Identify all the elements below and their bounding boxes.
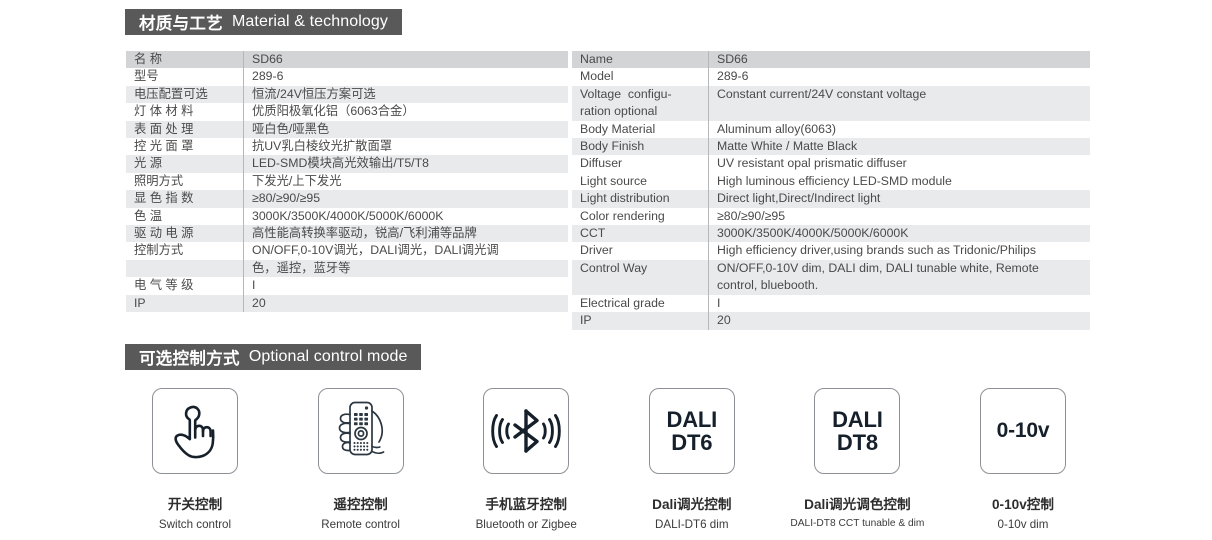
spec-value: ON/OFF,0-10V调光，DALI调光，DALI调光调 <box>243 242 568 259</box>
spec-value: LED-SMD模块高光效输出/T5/T8 <box>243 155 568 172</box>
table-row-continuation: control, bluebooth. <box>572 277 1090 294</box>
table-row: 名 称 SD66 <box>126 51 568 68</box>
spec-value: 抗UV乳白棱纹光扩散面罩 <box>243 138 568 155</box>
control-mode-switch[interactable]: 开关控制 Switch control <box>126 388 264 531</box>
spec-value: 恒流/24V恒压方案可选 <box>243 86 568 103</box>
spec-value: 色，遥控，蓝牙等 <box>243 260 568 277</box>
table-row-continuation: ration optional <box>572 103 1090 120</box>
spec-value: Aluminum alloy(6063) <box>708 121 1090 138</box>
control-mode-0-10v[interactable]: 0-10v 0-10v控制 0-10v dim <box>954 388 1092 531</box>
table-row: Color rendering ≥80/≥90/≥95 <box>572 208 1090 225</box>
control-mode-label-cn: 开关控制 <box>168 493 222 513</box>
control-mode-label-cn: Dali调光控制 <box>652 493 731 513</box>
control-mode-dali-dt8[interactable]: DALI DT8 Dali调光调色控制 DALI-DT8 CCT tunable… <box>788 388 926 531</box>
spec-key: 灯 体 材 料 <box>126 103 243 120</box>
table-row: Name SD66 <box>572 51 1090 68</box>
product-spec-page: 材质与工艺 Material & technology 名 称 SD66 型号 … <box>0 0 1212 540</box>
spec-value: Constant current/24V constant voltage <box>708 86 1090 103</box>
control-mode-remote[interactable]: 遥控控制 Remote control <box>292 388 430 531</box>
dali-dt6-badge-icon: DALI DT6 <box>667 408 718 454</box>
table-row: 显 色 指 数 ≥80/≥90/≥95 <box>126 190 568 207</box>
spec-value: 289-6 <box>243 68 568 85</box>
spec-key: Light source <box>572 173 708 190</box>
table-row: 电压配置可选 恒流/24V恒压方案可选 <box>126 86 568 103</box>
spec-key: 色 温 <box>126 208 243 225</box>
table-row: Diffuser UV resistant opal prismatic dif… <box>572 155 1090 172</box>
table-row: Light distribution Direct light,Direct/I… <box>572 190 1090 207</box>
bluetooth-wireless-icon <box>491 406 561 456</box>
spec-key: Model <box>572 68 708 85</box>
spec-value: 3000K/3500K/4000K/5000K/6000K <box>243 208 568 225</box>
spec-key: Light distribution <box>572 190 708 207</box>
table-row: 照明方式 下发光/上下发光 <box>126 173 568 190</box>
spec-key: ration optional <box>572 103 708 120</box>
spec-value: 20 <box>243 295 568 312</box>
section-header-material: 材质与工艺 Material & technology <box>125 9 402 35</box>
spec-key: CCT <box>572 225 708 242</box>
spec-value: 优质阳极氧化铝（6063合金） <box>243 103 568 120</box>
spec-key: 型号 <box>126 68 243 85</box>
section-header-material-en: Material & technology <box>232 13 388 31</box>
control-mode-label-en: 0-10v dim <box>998 518 1049 531</box>
spec-key: Body Material <box>572 121 708 138</box>
spec-key: 照明方式 <box>126 173 243 190</box>
control-mode-dali-dt6[interactable]: DALI DT6 Dali调光控制 DALI-DT6 dim <box>623 388 761 531</box>
table-row: Light source High luminous efficiency LE… <box>572 173 1090 190</box>
spec-key: Body Finish <box>572 138 708 155</box>
spec-value: High efficiency driver,using brands such… <box>708 242 1090 259</box>
table-row: 型号 289-6 <box>126 68 568 85</box>
control-mode-label-cn: 遥控控制 <box>333 493 387 513</box>
spec-table-chinese: 名 称 SD66 型号 289-6 电压配置可选 恒流/24V恒压方案可选 灯 … <box>126 51 568 312</box>
spec-key: 光 源 <box>126 155 243 172</box>
table-row: 色 温 3000K/3500K/4000K/5000K/6000K <box>126 208 568 225</box>
control-mode-label-en: Switch control <box>159 518 231 531</box>
spec-key: Voltage configu- <box>572 86 708 103</box>
dali-dt8-badge-icon: DALI DT8 <box>832 408 883 454</box>
spec-table-english: Name SD66 Model 289-6 Voltage configu- C… <box>572 51 1090 330</box>
table-row-continuation: 色，遥控，蓝牙等 <box>126 260 568 277</box>
table-row: 电 气 等 级 I <box>126 277 568 294</box>
table-row: CCT 3000K/3500K/4000K/5000K/6000K <box>572 225 1090 242</box>
spec-key: 电压配置可选 <box>126 86 243 103</box>
table-row: Voltage configu- Constant current/24V co… <box>572 86 1090 103</box>
control-mode-label-en: Bluetooth or Zigbee <box>476 518 577 531</box>
table-row: 控制方式 ON/OFF,0-10V调光，DALI调光，DALI调光调 <box>126 242 568 259</box>
table-row: IP 20 <box>126 295 568 312</box>
spec-key: Diffuser <box>572 155 708 172</box>
table-row: Body Material Aluminum alloy(6063) <box>572 121 1090 138</box>
control-mode-label-cn: 0-10v控制 <box>992 493 1054 513</box>
spec-key: Control Way <box>572 260 708 277</box>
spec-key: Name <box>572 51 708 68</box>
spec-value: I <box>708 295 1090 312</box>
hand-tap-icon <box>168 402 222 460</box>
zero-to-ten-volt-badge-card[interactable]: 0-10v <box>980 388 1066 474</box>
control-mode-list: 开关控制 Switch control <box>126 388 1092 531</box>
spec-value: High luminous efficiency LED-SMD module <box>708 173 1090 190</box>
table-row: 驱 动 电 源 高性能高转换率驱动，锐高/飞利浦等品牌 <box>126 225 568 242</box>
section-header-control-mode: 可选控制方式 Optional control mode <box>125 344 421 370</box>
spec-key: 控 光 面 罩 <box>126 138 243 155</box>
spec-key: Electrical grade <box>572 295 708 312</box>
control-mode-label-en: DALI-DT8 CCT tunable & dim <box>790 518 924 529</box>
spec-value: 哑白色/哑黑色 <box>243 121 568 138</box>
table-row: Body Finish Matte White / Matte Black <box>572 138 1090 155</box>
spec-value: Direct light,Direct/Indirect light <box>708 190 1090 207</box>
spec-value: ≥80/≥90/≥95 <box>708 208 1090 225</box>
spec-key: 控制方式 <box>126 242 243 259</box>
table-row: 光 源 LED-SMD模块高光效输出/T5/T8 <box>126 155 568 172</box>
section-header-control-en: Optional control mode <box>249 348 408 366</box>
table-row: Driver High efficiency driver,using bran… <box>572 242 1090 259</box>
dali-dt6-badge-card[interactable]: DALI DT6 <box>649 388 735 474</box>
spec-key: IP <box>126 295 243 312</box>
spec-value: 20 <box>708 312 1090 329</box>
control-mode-label-cn: 手机蓝牙控制 <box>485 493 567 513</box>
table-row: 灯 体 材 料 优质阳极氧化铝（6063合金） <box>126 103 568 120</box>
spec-key <box>572 277 708 294</box>
remote-in-hand-icon <box>331 400 391 462</box>
hand-tap-card[interactable] <box>152 388 238 474</box>
bluetooth-wireless-card[interactable] <box>483 388 569 474</box>
spec-value: SD66 <box>708 51 1090 68</box>
spec-key: 电 气 等 级 <box>126 277 243 294</box>
spec-key: 驱 动 电 源 <box>126 225 243 242</box>
zero-to-ten-volt-badge-icon: 0-10v <box>997 420 1050 442</box>
spec-key <box>126 260 243 277</box>
spec-value: 高性能高转换率驱动，锐高/飞利浦等品牌 <box>243 225 568 242</box>
remote-in-hand-card[interactable] <box>318 388 404 474</box>
spec-value: 3000K/3500K/4000K/5000K/6000K <box>708 225 1090 242</box>
spec-value: 下发光/上下发光 <box>243 173 568 190</box>
table-row: Electrical grade I <box>572 295 1090 312</box>
control-mode-bluetooth[interactable]: 手机蓝牙控制 Bluetooth or Zigbee <box>457 388 595 531</box>
spec-value: control, bluebooth. <box>708 277 1090 294</box>
section-header-control-cn: 可选控制方式 <box>139 345 240 369</box>
spec-key: Driver <box>572 242 708 259</box>
spec-key: 表 面 处 理 <box>126 121 243 138</box>
spec-key: IP <box>572 312 708 329</box>
spec-value: SD66 <box>243 51 568 68</box>
control-mode-label-cn: Dali调光调色控制 <box>804 493 911 513</box>
control-mode-label-en: DALI-DT6 dim <box>655 518 728 531</box>
spec-value: I <box>243 277 568 294</box>
spec-value: Matte White / Matte Black <box>708 138 1090 155</box>
table-row: Model 289-6 <box>572 68 1090 85</box>
spec-value <box>708 103 1090 120</box>
spec-value: ≥80/≥90/≥95 <box>243 190 568 207</box>
table-row: 控 光 面 罩 抗UV乳白棱纹光扩散面罩 <box>126 138 568 155</box>
spec-key: Color rendering <box>572 208 708 225</box>
spec-value: ON/OFF,0-10V dim, DALI dim, DALI tunable… <box>708 260 1090 277</box>
dali-dt8-badge-card[interactable]: DALI DT8 <box>814 388 900 474</box>
table-row: IP 20 <box>572 312 1090 329</box>
spec-value: UV resistant opal prismatic diffuser <box>708 155 1090 172</box>
control-mode-label-en: Remote control <box>321 518 400 531</box>
spec-value: 289-6 <box>708 68 1090 85</box>
spec-key: 显 色 指 数 <box>126 190 243 207</box>
spec-key: 名 称 <box>126 51 243 68</box>
section-header-material-cn: 材质与工艺 <box>139 10 223 34</box>
table-row: Control Way ON/OFF,0-10V dim, DALI dim, … <box>572 260 1090 277</box>
table-row: 表 面 处 理 哑白色/哑黑色 <box>126 121 568 138</box>
